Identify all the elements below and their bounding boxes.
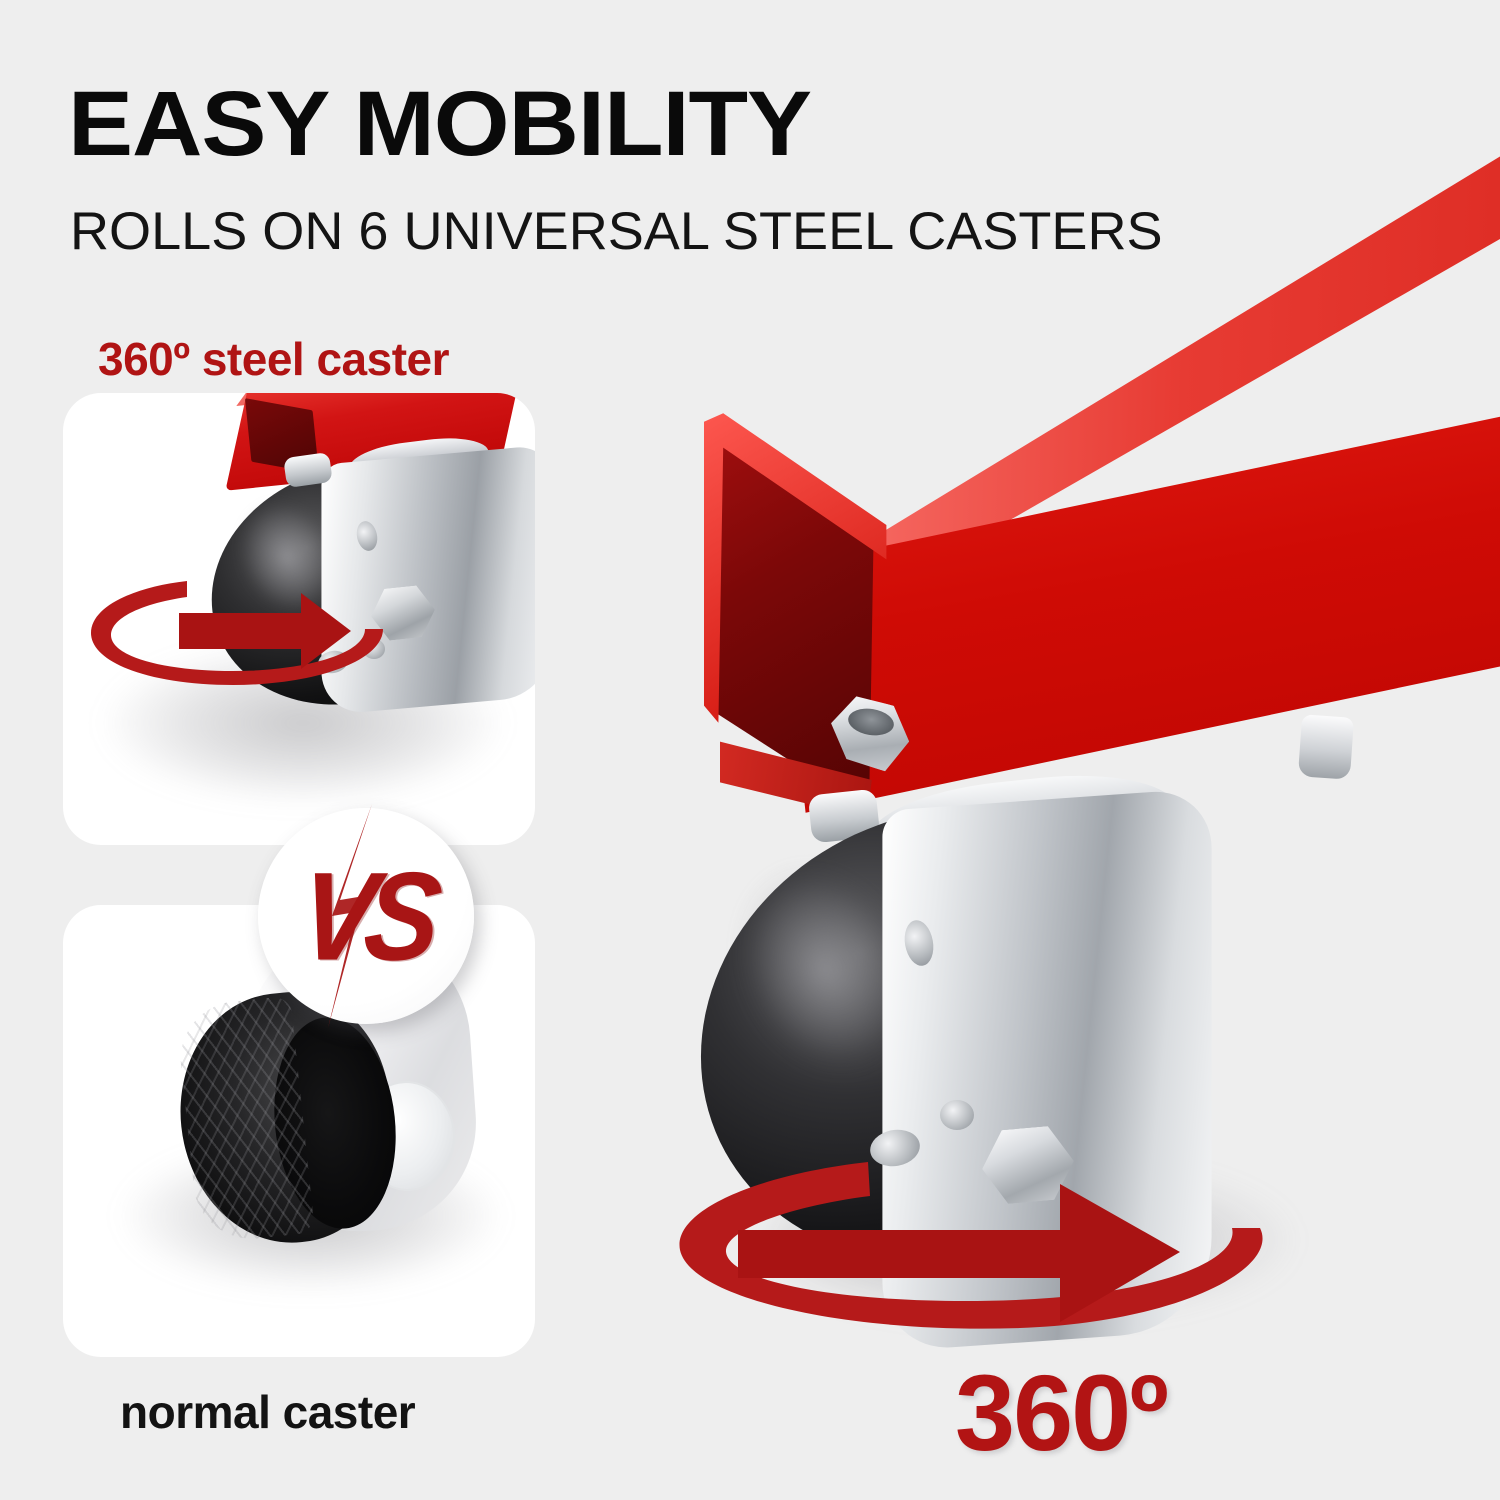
steel-caster-label: 360º steel caster: [98, 332, 449, 386]
normal-caster-label: normal caster: [120, 1385, 415, 1439]
chrome-pin: [1298, 714, 1354, 779]
rotation-arrow-icon: [83, 543, 503, 713]
rotation-degrees-label: 360º: [955, 1350, 1167, 1475]
vs-badge: VS: [258, 808, 474, 1024]
hero-product-photo: [600, 120, 1500, 1440]
steel-caster-card: [63, 393, 535, 845]
steel-caster-photo: [63, 393, 535, 845]
vs-label: VS: [294, 844, 439, 988]
